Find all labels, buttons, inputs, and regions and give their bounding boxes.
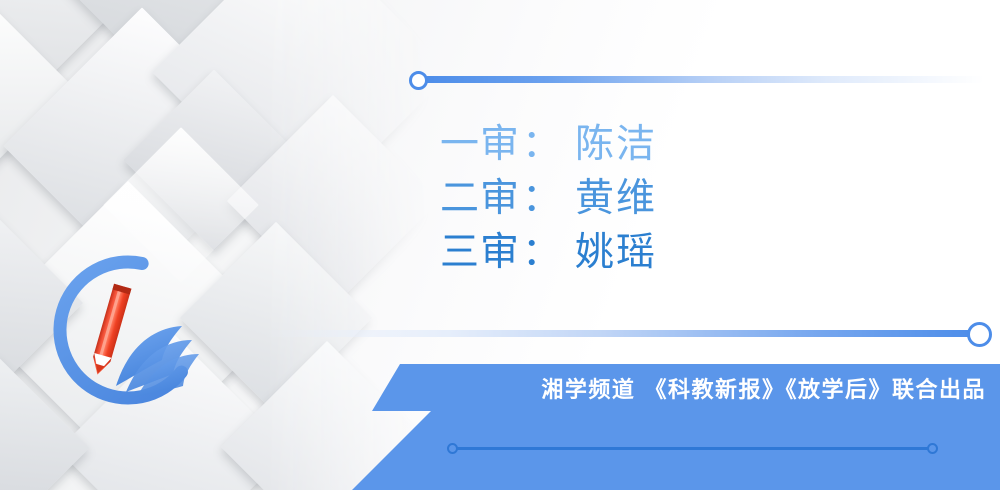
credit-line-first-review: 一审：陈洁 (440, 118, 870, 172)
bg-diamond (123, 69, 304, 250)
channel-logo (42, 244, 214, 416)
pencil-book-wave-logo-icon (42, 244, 214, 416)
bg-diamond (152, 0, 430, 222)
credit-line-second-review: 二审：黄维 (440, 172, 870, 226)
bg-diamond (0, 0, 72, 182)
credit-line-third-review: 三审：姚瑶 (440, 226, 870, 280)
credit-separator: ： (520, 177, 565, 220)
produced-by-text: 湘学频道 《科教新报》《放学后》联合出品 (541, 372, 986, 404)
video-endcard: 一审：陈洁 二审：黄维 三审：姚瑶 湘学频道 《科教新报》《放学后》联合出品 (0, 0, 1000, 490)
decorative-ring-left (409, 71, 428, 90)
decorative-rule-top (424, 76, 984, 83)
slab-thin-rule (452, 447, 932, 450)
decorative-ring-right (967, 322, 992, 347)
credit-separator: ： (520, 123, 565, 166)
bg-diamond (0, 0, 121, 111)
bg-diamond (61, 0, 301, 101)
credits-block: 一审：陈洁 二审：黄维 三审：姚瑶 (440, 118, 870, 280)
credit-person-name: 姚瑶 (565, 231, 657, 274)
produced-by-banner: 湘学频道 《科教新报》《放学后》联合出品 (372, 364, 1000, 411)
slab-rule-dot-left (447, 443, 458, 454)
credit-role-label: 一审 (440, 123, 520, 166)
credit-role-label: 二审 (440, 177, 520, 220)
credit-person-name: 陈洁 (565, 123, 657, 166)
credit-separator: ： (520, 231, 565, 274)
credit-person-name: 黄维 (565, 177, 657, 220)
credit-role-label: 三审 (440, 231, 520, 274)
slab-rule-dot-right (927, 443, 938, 454)
bg-diamond (227, 95, 430, 307)
bg-diamond (3, 7, 280, 284)
decorative-rule-bottom (262, 330, 974, 337)
logo-pencil (89, 284, 132, 377)
